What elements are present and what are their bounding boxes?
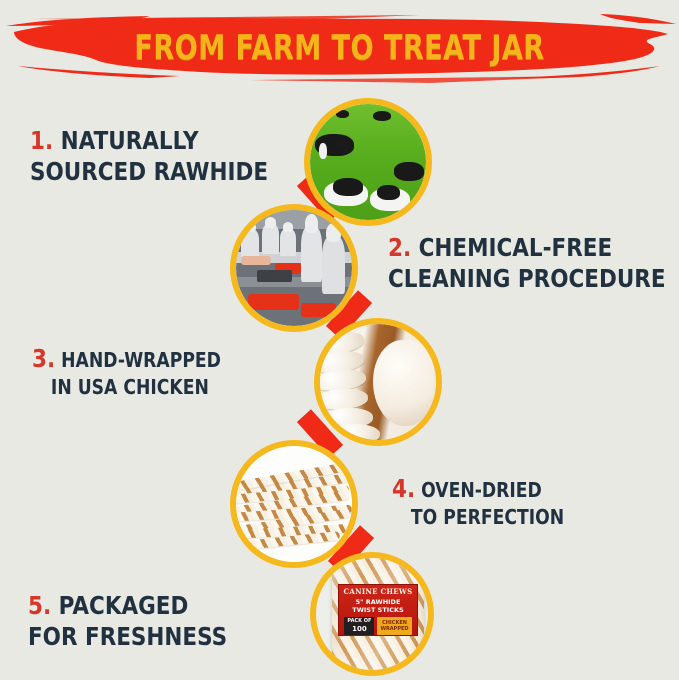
cow	[373, 111, 392, 121]
step-3-line2: IN USA CHICKEN	[51, 375, 221, 399]
product-name-line1: 5" RAWHIDE	[356, 598, 401, 606]
step-5-line2: FOR FRESHNESS	[28, 622, 227, 653]
chicken-wrapped-badge: CHICKEN WRAPPED	[377, 617, 411, 635]
sliced-chicken-breast-photo	[314, 318, 442, 446]
cow	[336, 139, 350, 149]
step-5-number: 5.	[28, 591, 51, 620]
step-5-line1: PACKAGED	[59, 591, 189, 620]
cow	[394, 162, 424, 181]
cows-in-pasture-photo	[304, 98, 432, 226]
cow	[336, 110, 350, 118]
step-4-line1: OVEN-DRIED	[421, 478, 542, 502]
cow	[377, 185, 400, 200]
step-5-text: 5. PACKAGED FOR FRESHNESS	[28, 591, 227, 652]
step-2-line1: CHEMICAL-FREE	[419, 233, 613, 262]
pack-count-badge: PACK OF 100	[344, 617, 374, 635]
step-4-line2: TO PERFECTION	[411, 505, 564, 529]
step-1-number: 1.	[30, 126, 53, 155]
step-2-number: 2.	[388, 233, 411, 262]
title-banner: FROM FARM TO TREAT JAR	[0, 8, 679, 88]
product-package-photo: CANINE CHEWS 5" RAWHIDE TWIST STICKS PAC…	[310, 552, 434, 676]
label-badges: PACK OF 100 CHICKEN WRAPPED	[344, 617, 411, 635]
red-tray	[248, 294, 299, 310]
red-tray	[301, 303, 336, 317]
step-3-text: 3. HAND-WRAPPED IN USA CHICKEN	[32, 344, 221, 399]
worker	[262, 224, 279, 254]
pack-count: 100	[347, 625, 371, 633]
worker	[280, 229, 296, 257]
product-name: 5" RAWHIDE TWIST STICKS	[352, 598, 403, 614]
equipment	[257, 270, 292, 282]
step-4-text: 4. OVEN-DRIED TO PERFECTION	[392, 474, 564, 529]
step-1-line1: NATURALLY	[61, 126, 199, 155]
product-bag: CANINE CHEWS 5" RAWHIDE TWIST STICKS PAC…	[316, 558, 428, 670]
meat-on-line	[241, 256, 271, 264]
step-3-number: 3.	[32, 344, 55, 373]
processing-facility-photo	[230, 204, 358, 332]
infographic-page: FROM FARM TO TREAT JAR	[0, 0, 679, 680]
chicken-breast	[373, 340, 433, 426]
cow	[333, 178, 363, 195]
product-label: CANINE CHEWS 5" RAWHIDE TWIST STICKS PAC…	[338, 584, 418, 636]
pack-label: PACK OF	[347, 618, 371, 624]
worker	[322, 236, 345, 294]
claim-line2: WRAPPED	[380, 626, 408, 632]
step-1-text: 1. NATURALLY SOURCED RAWHIDE	[30, 126, 268, 187]
rawhide-twist-sticks-photo	[230, 440, 358, 568]
worker	[301, 226, 322, 282]
brand-name: CANINE CHEWS	[344, 588, 413, 595]
step-1-line2: SOURCED RAWHIDE	[30, 157, 268, 188]
page-title: FROM FARM TO TREAT JAR	[68, 28, 611, 68]
step-2-text: 2. CHEMICAL-FREE CLEANING PROCEDURE	[388, 233, 666, 294]
step-2-line2: CLEANING PROCEDURE	[388, 264, 666, 295]
worker	[241, 229, 260, 259]
step-4-number: 4.	[392, 474, 415, 503]
step-3-line1: HAND-WRAPPED	[61, 348, 221, 372]
product-name-line2: TWIST STICKS	[352, 606, 403, 614]
cow	[319, 143, 327, 158]
